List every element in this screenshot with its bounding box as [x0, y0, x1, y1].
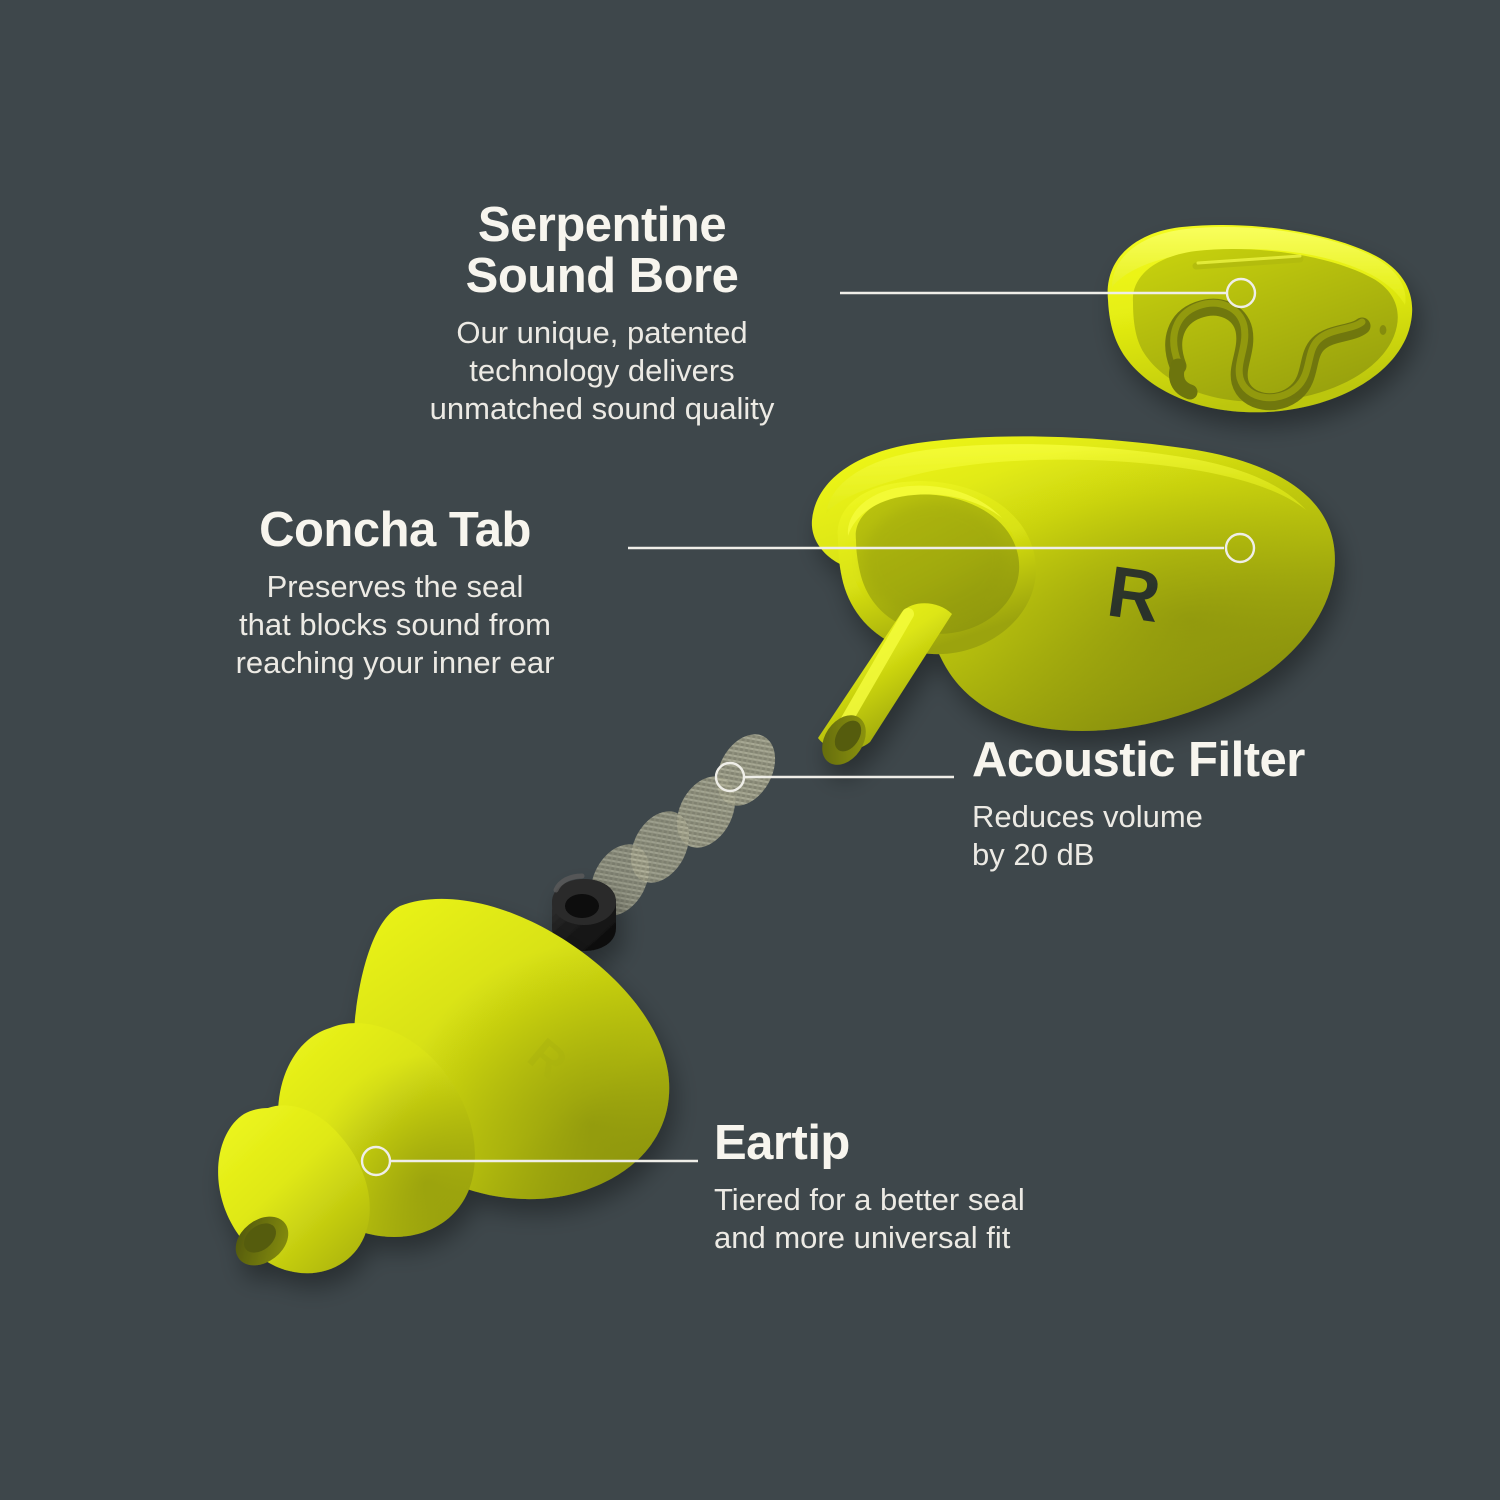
callout-acoustic-filter: Acoustic Filter Reduces volume by 20 dB	[972, 735, 1392, 874]
callout-title-concha-tab: Concha Tab	[180, 505, 610, 556]
side-marking-R: R	[1103, 552, 1166, 638]
cap-pin-hole	[1380, 325, 1387, 335]
callout-body-eartip: Tiered for a better seal and more univer…	[714, 1181, 1144, 1257]
concha-tab-inner-shadow	[863, 502, 1007, 618]
callout-eartip: Eartip Tiered for a better seal and more…	[714, 1118, 1144, 1257]
callout-title-eartip: Eartip	[714, 1118, 1144, 1169]
callout-concha-tab: Concha Tab Preserves the seal that block…	[180, 505, 610, 681]
callout-body-sound-bore: Our unique, patented technology delivers…	[372, 314, 832, 427]
callout-title-acoustic-filter: Acoustic Filter	[972, 735, 1392, 786]
callout-body-concha-tab: Preserves the seal that blocks sound fro…	[180, 568, 610, 681]
callout-body-acoustic-filter: Reduces volume by 20 dB	[972, 798, 1392, 874]
callout-title-sound-bore: Serpentine Sound Bore	[372, 200, 832, 302]
product-diagram: R	[0, 0, 1500, 1500]
callout-serpentine-sound-bore: Serpentine Sound Bore Our unique, patent…	[372, 200, 832, 427]
